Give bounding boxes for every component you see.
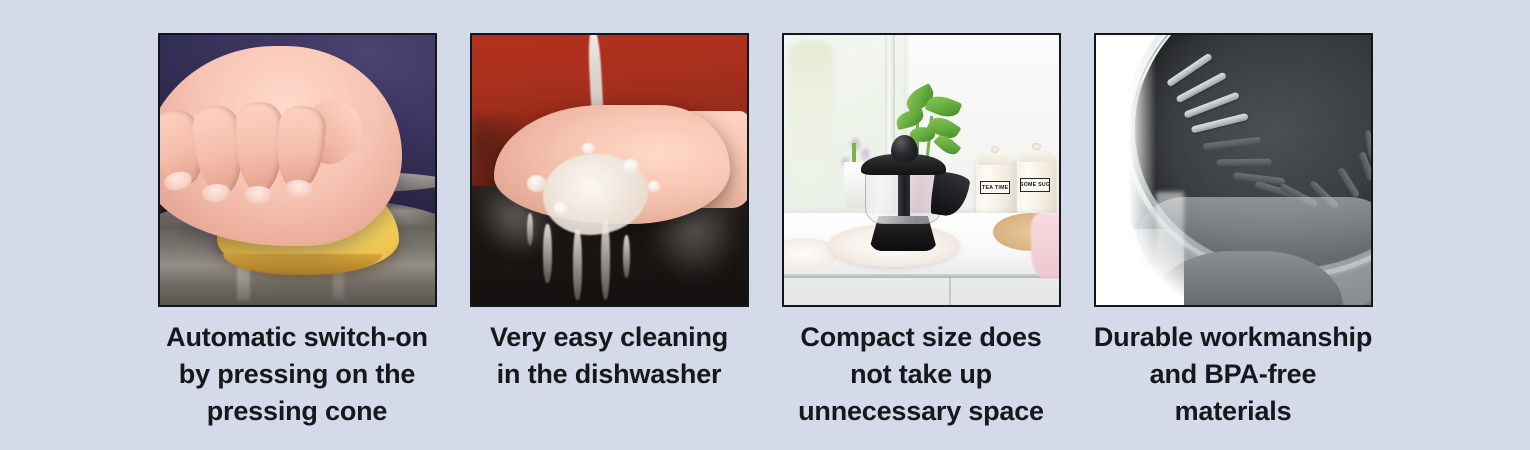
feature-card-automatic-switch-on[interactable]: Automatic switch-on by pressing on the p… [158, 33, 437, 430]
photo3-pink-cloth [1031, 213, 1059, 278]
strainer-closeup-photo [1096, 35, 1371, 305]
caption-line: Automatic switch-on [147, 319, 447, 356]
caption-line: Compact size does [771, 319, 1071, 356]
photo1-nail-3 [244, 186, 272, 204]
caption-line: unnecessary space [771, 393, 1071, 430]
photo1-finger-3 [235, 101, 283, 192]
caption-line: by pressing on the [147, 356, 447, 393]
caption-line: not take up [771, 356, 1071, 393]
photo-frame-2[interactable] [470, 33, 749, 307]
photo3-juicer-shaft [898, 170, 910, 216]
photo3-counter-edge [784, 274, 1059, 278]
photo2-sud [582, 143, 596, 154]
photo1-finger-4 [274, 104, 328, 192]
photo1-hand [160, 46, 402, 246]
feature-caption-3: Compact size does not take up unnecessar… [771, 319, 1071, 430]
photo2-sud [527, 175, 546, 191]
photo-frame-4[interactable] [1094, 33, 1373, 307]
photo3-canister-lid [977, 151, 1013, 165]
photo-frame-1[interactable] [158, 33, 437, 307]
photo3-canister-lid [1019, 148, 1055, 162]
feature-card-compact-size[interactable]: TEA TIME SOME SUG [782, 33, 1061, 430]
photo2-drip [543, 224, 552, 283]
photo2-sud [648, 181, 660, 192]
caption-line: pressing cone [147, 393, 447, 430]
feature-caption-4: Durable workmanship and BPA-free materia… [1083, 319, 1383, 430]
caption-line: Very easy cleaning [459, 319, 759, 356]
caption-line: Durable workmanship [1083, 319, 1383, 356]
photo3-canister-knob [991, 146, 999, 153]
photo3-curtain [789, 40, 833, 189]
caption-line: materials [1083, 393, 1383, 430]
photo2-drip [623, 235, 630, 278]
photo2-sud [554, 202, 568, 214]
photo4-white-cutout-corner [1096, 229, 1184, 305]
caption-line: and BPA-free [1083, 356, 1383, 393]
photo3-drawer-gap [949, 278, 951, 305]
photo2-drip [573, 229, 581, 299]
photo2-drip [601, 219, 610, 300]
photo-frame-3[interactable]: TEA TIME SOME SUG [782, 33, 1061, 307]
hand-pressing-lemon-photo [160, 35, 435, 305]
juicer-on-counter-photo: TEA TIME SOME SUG [784, 35, 1059, 305]
photo3-juicer-cone [891, 135, 919, 162]
washing-hands-photo [472, 35, 747, 305]
photo3-canister-knob [1032, 143, 1040, 150]
photo2-drip [527, 213, 534, 245]
photo3-canister-label-tea: TEA TIME [980, 181, 1010, 195]
feature-strip: Automatic switch-on by pressing on the p… [0, 0, 1530, 450]
feature-card-dishwasher-safe[interactable]: Very easy cleaning in the dishwasher [470, 33, 749, 393]
caption-line: in the dishwasher [459, 356, 759, 393]
photo3-canister-label-sugar: SOME SUG [1020, 178, 1050, 192]
feature-caption-1: Automatic switch-on by pressing on the p… [147, 319, 447, 430]
feature-caption-2: Very easy cleaning in the dishwasher [459, 319, 759, 393]
photo2-sud [623, 159, 640, 173]
feature-card-durable-bpa-free[interactable]: Durable workmanship and BPA-free materia… [1094, 33, 1373, 430]
